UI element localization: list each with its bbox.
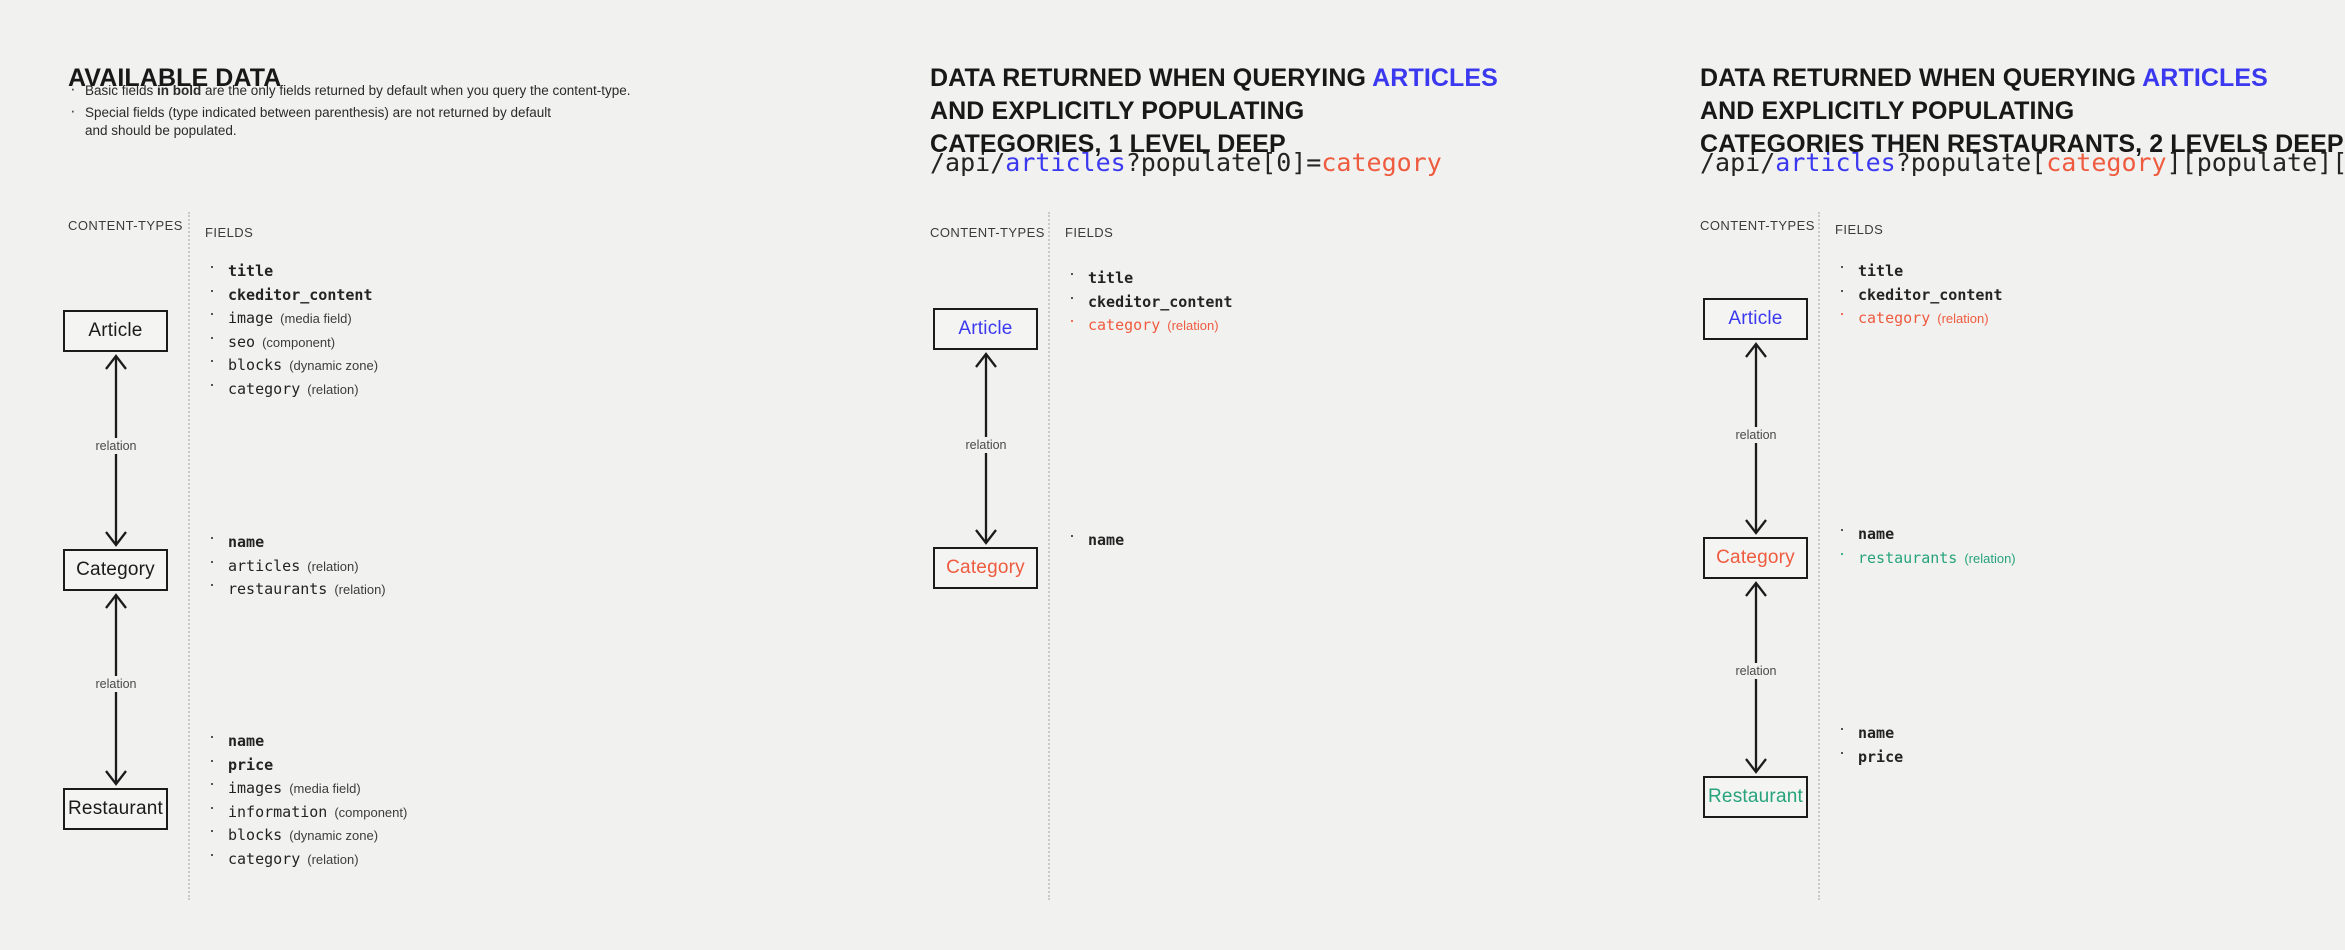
- fieldlist-article-col3: title ckeditor_content category(relation…: [1835, 263, 2003, 334]
- field-name: name: [228, 732, 264, 750]
- intro-2-pre: Special fields (type indicated between p…: [85, 105, 551, 120]
- field-name: name: [1858, 724, 1894, 742]
- field-name: category: [1858, 309, 1930, 327]
- sublabel-fields-col3: FIELDS: [1835, 222, 1883, 237]
- title-line1-pre: DATA RETURNED WHEN QUERYING: [1700, 64, 2142, 92]
- sublabel-fields-col1: FIELDS: [205, 225, 253, 240]
- field-row: title: [1065, 270, 1233, 287]
- field-name: name: [228, 533, 264, 551]
- query-part-populate: ?populate[0]=: [1126, 148, 1322, 177]
- intro-bullet-1: Basic fields in bold are the only fields…: [68, 82, 668, 101]
- field-name: title: [1088, 269, 1133, 287]
- fieldlist-category-col3: name restaurants(relation): [1835, 526, 2016, 573]
- field-row: title: [205, 263, 378, 280]
- field-type: (dynamic zone): [289, 828, 378, 843]
- node-category-col3[interactable]: Category: [1703, 537, 1808, 579]
- node-article-col1[interactable]: Article: [63, 310, 168, 352]
- fieldlist-restaurant-col3: name price: [1835, 725, 1903, 772]
- field-name: blocks: [228, 826, 282, 844]
- field-type: (relation): [1964, 551, 2015, 566]
- query-part-api: /api/: [930, 148, 1005, 177]
- node-article-col2[interactable]: Article: [933, 308, 1038, 350]
- query-url-one-level: /api/articles?populate[0]=category: [930, 148, 1442, 177]
- field-type: (relation): [307, 382, 358, 397]
- field-row: title: [1835, 263, 2003, 280]
- fieldlist-category-col2: name: [1065, 532, 1124, 556]
- field-name: blocks: [228, 356, 282, 374]
- field-type: (relation): [1167, 318, 1218, 333]
- query-part-category: category: [1321, 148, 1441, 177]
- field-row: price: [205, 757, 407, 774]
- field-row: name: [205, 534, 386, 551]
- node-label: Category: [76, 559, 155, 581]
- field-name: ckeditor_content: [228, 286, 373, 304]
- field-type: (media field): [289, 781, 361, 796]
- intro-2-cont: and should be populated.: [85, 122, 237, 141]
- field-row: name: [205, 733, 407, 750]
- field-row: articles(relation): [205, 558, 386, 575]
- sublabel-content-types-col2: CONTENT-TYPES: [930, 225, 1045, 240]
- field-type: (media field): [280, 311, 352, 326]
- node-restaurant-col1[interactable]: Restaurant: [63, 788, 168, 830]
- field-type: (relation): [307, 852, 358, 867]
- field-type: (relation): [1937, 311, 1988, 326]
- field-name: price: [1858, 748, 1903, 766]
- field-row: images(media field): [205, 780, 407, 797]
- field-row: name: [1065, 532, 1124, 549]
- field-type: (dynamic zone): [289, 358, 378, 373]
- query-part-populate-open: ?populate[: [1896, 148, 2047, 177]
- column-divider-col3: [1818, 212, 1820, 900]
- fieldlist-article-col1: title ckeditor_content image(media field…: [205, 263, 378, 404]
- field-row: restaurants(relation): [1835, 550, 2016, 567]
- node-label: Article: [1728, 308, 1782, 330]
- field-name: ckeditor_content: [1088, 293, 1233, 311]
- relation-label-col3-2: relation: [1732, 663, 1781, 679]
- intro-bullet-2: Special fields (type indicated between p…: [68, 104, 668, 141]
- field-row: image(media field): [205, 310, 378, 327]
- column-one-level-deep: DATA RETURNED WHEN QUERYING ARTICLES AND…: [855, 0, 1625, 950]
- node-label: Category: [1716, 547, 1795, 569]
- field-type: (relation): [307, 559, 358, 574]
- node-label: Article: [958, 318, 1012, 340]
- node-label: Restaurant: [1708, 786, 1803, 808]
- fieldlist-category-col1: name articles(relation) restaurants(rela…: [205, 534, 386, 605]
- field-name: title: [1858, 262, 1903, 280]
- query-url-two-level: /api/articles?populate[category][populat…: [1700, 148, 2345, 177]
- diagram-page: AVAILABLE DATA Basic fields in bold are …: [0, 0, 2345, 950]
- relation-label-col2-1: relation: [962, 437, 1011, 453]
- column-divider-col2: [1048, 212, 1050, 900]
- field-type: (component): [262, 335, 335, 350]
- field-row: blocks(dynamic zone): [205, 357, 378, 374]
- node-category-col1[interactable]: Category: [63, 549, 168, 591]
- field-name: restaurants: [1858, 549, 1957, 567]
- query-part-articles: articles: [1005, 148, 1125, 177]
- field-name: restaurants: [228, 580, 327, 598]
- field-row: price: [1835, 749, 1903, 766]
- field-row: restaurants(relation): [205, 581, 386, 598]
- field-name: category: [1088, 316, 1160, 334]
- field-name: category: [228, 850, 300, 868]
- field-row: category(relation): [1835, 310, 2003, 327]
- node-article-col3[interactable]: Article: [1703, 298, 1808, 340]
- sublabel-fields-col2: FIELDS: [1065, 225, 1113, 240]
- field-name: seo: [228, 333, 255, 351]
- sublabel-content-types-col3: CONTENT-TYPES: [1700, 218, 1815, 233]
- field-name: price: [228, 756, 273, 774]
- field-type: (component): [334, 805, 407, 820]
- two-level-title: DATA RETURNED WHEN QUERYING ARTICLES AND…: [1700, 62, 2344, 161]
- field-row: category(relation): [205, 381, 378, 398]
- relation-label-col1-1: relation: [92, 438, 141, 454]
- intro-1-post: are the only fields returned by default …: [201, 83, 630, 98]
- field-row: ckeditor_content: [205, 287, 378, 304]
- relation-label-col1-2: relation: [92, 676, 141, 692]
- field-name: title: [228, 262, 273, 280]
- column-available-data: AVAILABLE DATA Basic fields in bold are …: [0, 0, 855, 950]
- field-row: category(relation): [205, 851, 407, 868]
- field-name: information: [228, 803, 327, 821]
- available-data-intro: Basic fields in bold are the only fields…: [68, 82, 668, 141]
- sublabel-content-types-col1: CONTENT-TYPES: [68, 218, 183, 233]
- field-name: ckeditor_content: [1858, 286, 2003, 304]
- node-label: Restaurant: [68, 798, 163, 820]
- field-name: articles: [228, 557, 300, 575]
- field-name: name: [1088, 531, 1124, 549]
- intro-1-bold: in bold: [157, 83, 201, 98]
- node-label: Article: [88, 320, 142, 342]
- field-type: (relation): [334, 582, 385, 597]
- node-label: Category: [946, 557, 1025, 579]
- field-row: ckeditor_content: [1835, 287, 2003, 304]
- title-line2: AND EXPLICITLY POPULATING: [930, 97, 1304, 125]
- relation-label-col3-1: relation: [1732, 427, 1781, 443]
- title-line1-pre: DATA RETURNED WHEN QUERYING: [930, 64, 1372, 92]
- fieldlist-restaurant-col1: name price images(media field) informati…: [205, 733, 407, 874]
- field-name: images: [228, 779, 282, 797]
- field-row: name: [1835, 725, 1903, 742]
- node-category-col2[interactable]: Category: [933, 547, 1038, 589]
- field-name: category: [228, 380, 300, 398]
- node-restaurant-col3[interactable]: Restaurant: [1703, 776, 1808, 818]
- field-row: seo(component): [205, 334, 378, 351]
- query-part-populate-nested: ][populate][0]=: [2167, 148, 2345, 177]
- field-row: blocks(dynamic zone): [205, 827, 407, 844]
- one-level-title: DATA RETURNED WHEN QUERYING ARTICLES AND…: [930, 62, 1498, 161]
- title-line1-highlight: ARTICLES: [1372, 64, 1498, 92]
- query-part-category: category: [2046, 148, 2166, 177]
- field-name: name: [1858, 525, 1894, 543]
- intro-1-pre: Basic fields: [85, 83, 157, 98]
- field-name: image: [228, 309, 273, 327]
- column-two-levels-deep: DATA RETURNED WHEN QUERYING ARTICLES AND…: [1625, 0, 2345, 950]
- query-part-api: /api/: [1700, 148, 1775, 177]
- field-row: information(component): [205, 804, 407, 821]
- title-line2: AND EXPLICITLY POPULATING: [1700, 97, 2074, 125]
- field-row: name: [1835, 526, 2016, 543]
- field-row: ckeditor_content: [1065, 294, 1233, 311]
- query-part-articles: articles: [1775, 148, 1895, 177]
- column-divider-col1: [188, 212, 190, 900]
- title-line1-highlight: ARTICLES: [2142, 64, 2268, 92]
- fieldlist-article-col2: title ckeditor_content category(relation…: [1065, 270, 1233, 341]
- field-row: category(relation): [1065, 317, 1233, 334]
